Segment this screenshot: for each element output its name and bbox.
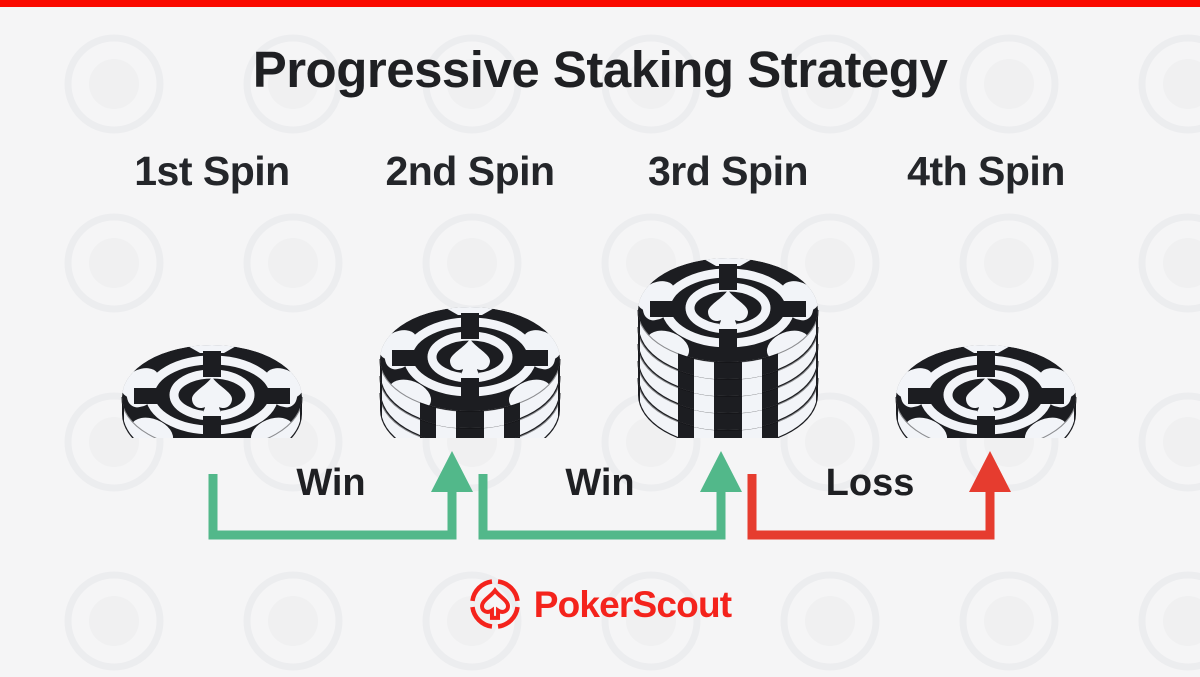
transition-label-loss-1: Loss (750, 462, 990, 505)
spin-column-label-1: 1st Spin (82, 148, 342, 195)
chip-stack-spin-2 (340, 228, 600, 438)
spin-column-label-3: 3rd Spin (598, 148, 858, 195)
poker-chip-icon (886, 298, 1086, 438)
top-accent-bar (0, 0, 1200, 7)
pokerscout-target-spade-icon (469, 578, 521, 630)
brand-logo: PokerScout (0, 578, 1200, 630)
poker-chip-stack-icon (370, 273, 570, 438)
infographic-canvas: Progressive Staking Strategy 1st Spin 2n… (0, 0, 1200, 677)
chip-stack-spin-1 (82, 228, 342, 438)
spin-column-label-2: 2nd Spin (340, 148, 600, 195)
transition-label-win-2: Win (480, 462, 720, 505)
transition-label-win-1: Win (211, 462, 451, 505)
brand-name: PokerScout (534, 586, 732, 623)
chip-stack-spin-4 (856, 228, 1116, 438)
poker-chip-stack-icon (628, 238, 828, 438)
spin-column-label-4: 4th Spin (856, 148, 1116, 195)
chip-stack-spin-3 (598, 228, 858, 438)
page-title: Progressive Staking Strategy (0, 40, 1200, 99)
poker-chip-icon (112, 298, 312, 438)
